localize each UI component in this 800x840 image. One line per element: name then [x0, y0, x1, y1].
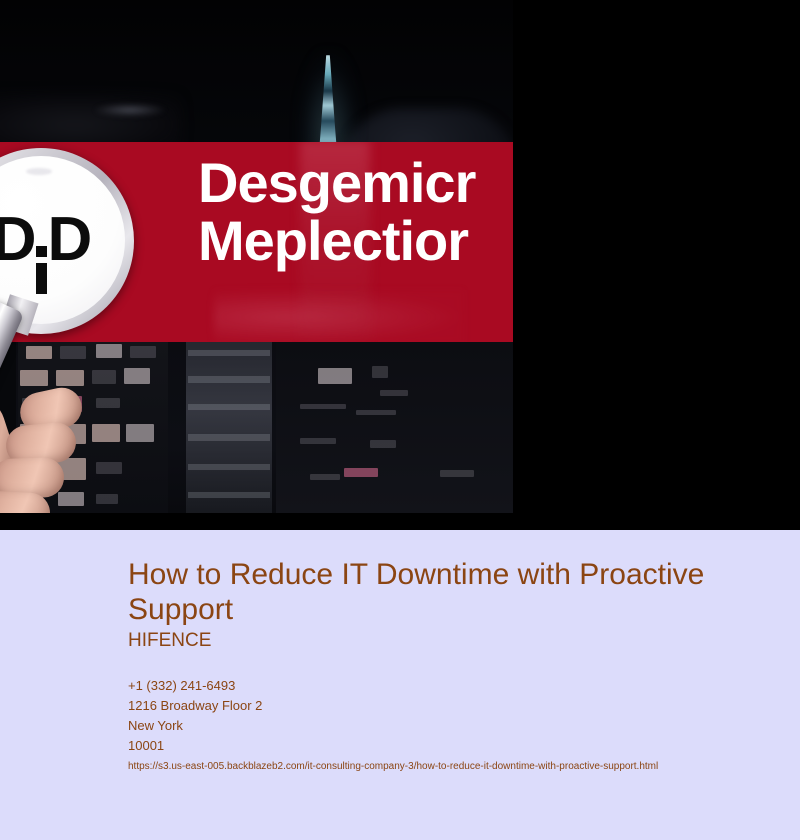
hero-image-band: Desgemicr Meplectior D D: [0, 0, 800, 530]
window-light: [310, 474, 340, 480]
brand-name: HIFENCE: [128, 630, 211, 652]
banner-headline: Desgemicr Meplectior: [198, 154, 513, 270]
contact-street: 1216 Broadway Floor 2: [128, 696, 262, 716]
building-right: [276, 342, 513, 513]
window-light: [380, 390, 408, 396]
letterbox-bar: [0, 513, 800, 530]
banner-headline-line2: Meplectior: [198, 212, 513, 270]
contact-postal-code: 10001: [128, 736, 262, 756]
window-light: [318, 368, 352, 384]
floor-band: [188, 492, 270, 498]
floor-band: [188, 376, 270, 383]
window-light: [356, 410, 396, 415]
window-light: [440, 470, 474, 477]
contact-block: +1 (332) 241-6493 1216 Broadway Floor 2 …: [128, 676, 262, 756]
foreground-highlight-left: [95, 104, 165, 116]
magnifying-glass-icon: D D: [0, 148, 188, 388]
floor-band: [188, 434, 270, 441]
banner-city-showthrough: [214, 290, 464, 342]
contact-phone[interactable]: +1 (332) 241-6493: [128, 676, 262, 696]
floor-band: [188, 464, 270, 470]
logo-letter-right: D: [48, 209, 91, 271]
window-light: [344, 468, 378, 477]
hero-photo: Desgemicr Meplectior D D: [0, 0, 513, 513]
source-url[interactable]: https://s3.us-east-005.backblazeb2.com/i…: [128, 760, 658, 773]
page-title: How to Reduce IT Downtime with Proactive…: [128, 557, 776, 627]
window-light: [370, 440, 396, 448]
building-center: [186, 342, 272, 513]
hand-holding-magnifier: [0, 380, 135, 513]
floor-band: [188, 404, 270, 410]
logo-letter-left: D: [0, 209, 35, 271]
banner-headline-line1: Desgemicr: [198, 154, 513, 212]
window-light: [372, 366, 388, 378]
window-light: [300, 404, 346, 409]
floor-band: [188, 350, 270, 356]
contact-city: New York: [128, 716, 262, 736]
article-content: How to Reduce IT Downtime with Proactive…: [0, 530, 800, 840]
window-light: [300, 438, 336, 444]
